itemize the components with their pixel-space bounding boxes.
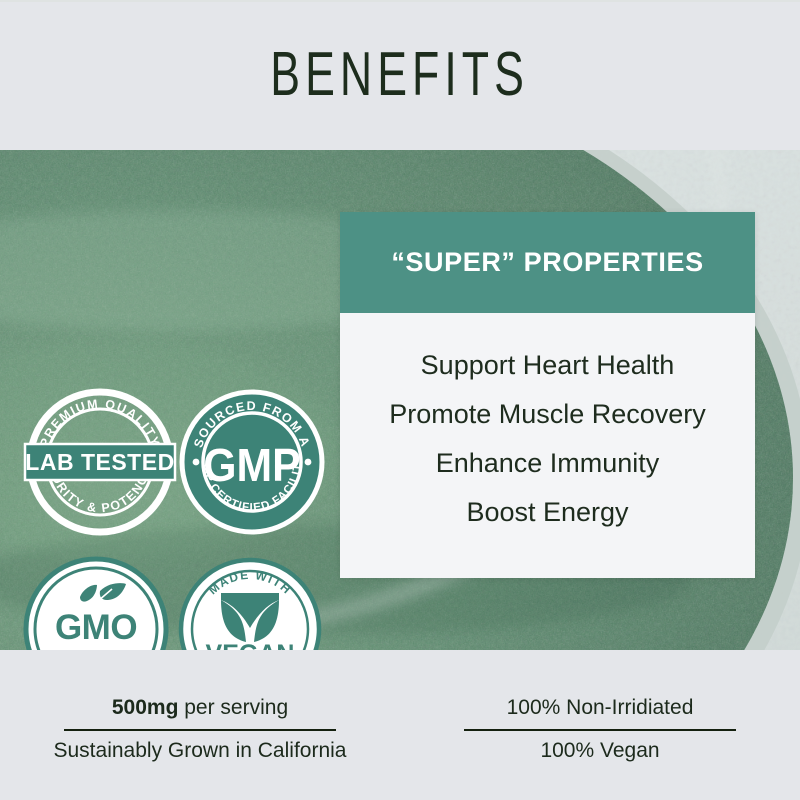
stat-serving-top: 500mg per serving [112, 696, 288, 719]
benefit-item: Support Heart Health [421, 352, 675, 379]
badge-gmp-label: GMP [203, 441, 300, 492]
certification-badges: PREMIUM QUALITY PURITY & POTENCY LAB TES… [0, 150, 340, 650]
stat-serving-unit: per serving [178, 696, 288, 719]
badge-gmo-free-label-1: GMO [55, 608, 137, 647]
super-properties-panel: “SUPER” PROPERTIES Support Heart Health … [340, 212, 755, 578]
badge-vegan: MADE WITH INGREDIENTS VEGAN [177, 556, 323, 650]
infographic-page: BENEFITS [0, 0, 800, 800]
badge-gmo-free: GMO FREE [22, 555, 170, 650]
badge-gmp: SOURCED FROM A GMP CERTIFIED FACILITY GM… [178, 388, 326, 536]
stat-serving-bottom: Sustainably Grown in California [54, 739, 347, 762]
bottom-stats: 500mg per serving Sustainably Grown in C… [0, 650, 800, 800]
stat-serving-amount: 500mg [112, 696, 179, 719]
panel-header: “SUPER” PROPERTIES [340, 212, 755, 313]
stat-divider [64, 729, 336, 731]
stat-purity: 100% Non-Irridiated 100% Vegan [400, 650, 800, 800]
stat-divider [464, 729, 736, 731]
stat-serving: 500mg per serving Sustainably Grown in C… [0, 650, 400, 800]
benefit-item: Promote Muscle Recovery [389, 401, 706, 428]
badge-lab-tested: PREMIUM QUALITY PURITY & POTENCY LAB TES… [22, 384, 178, 540]
benefit-item: Enhance Immunity [436, 450, 660, 477]
panel-heading: “SUPER” PROPERTIES [391, 247, 703, 278]
stat-purity-top: 100% Non-Irridiated [507, 696, 694, 719]
benefit-item: Boost Energy [466, 499, 628, 526]
badge-vegan-label: VEGAN [206, 640, 295, 650]
stat-purity-bottom: 100% Vegan [540, 739, 659, 762]
panel-body: Support Heart Health Promote Muscle Reco… [340, 313, 755, 578]
badge-lab-tested-label: LAB TESTED [25, 449, 174, 475]
page-title: BENEFITS [271, 44, 530, 106]
header-band: BENEFITS [0, 0, 800, 150]
